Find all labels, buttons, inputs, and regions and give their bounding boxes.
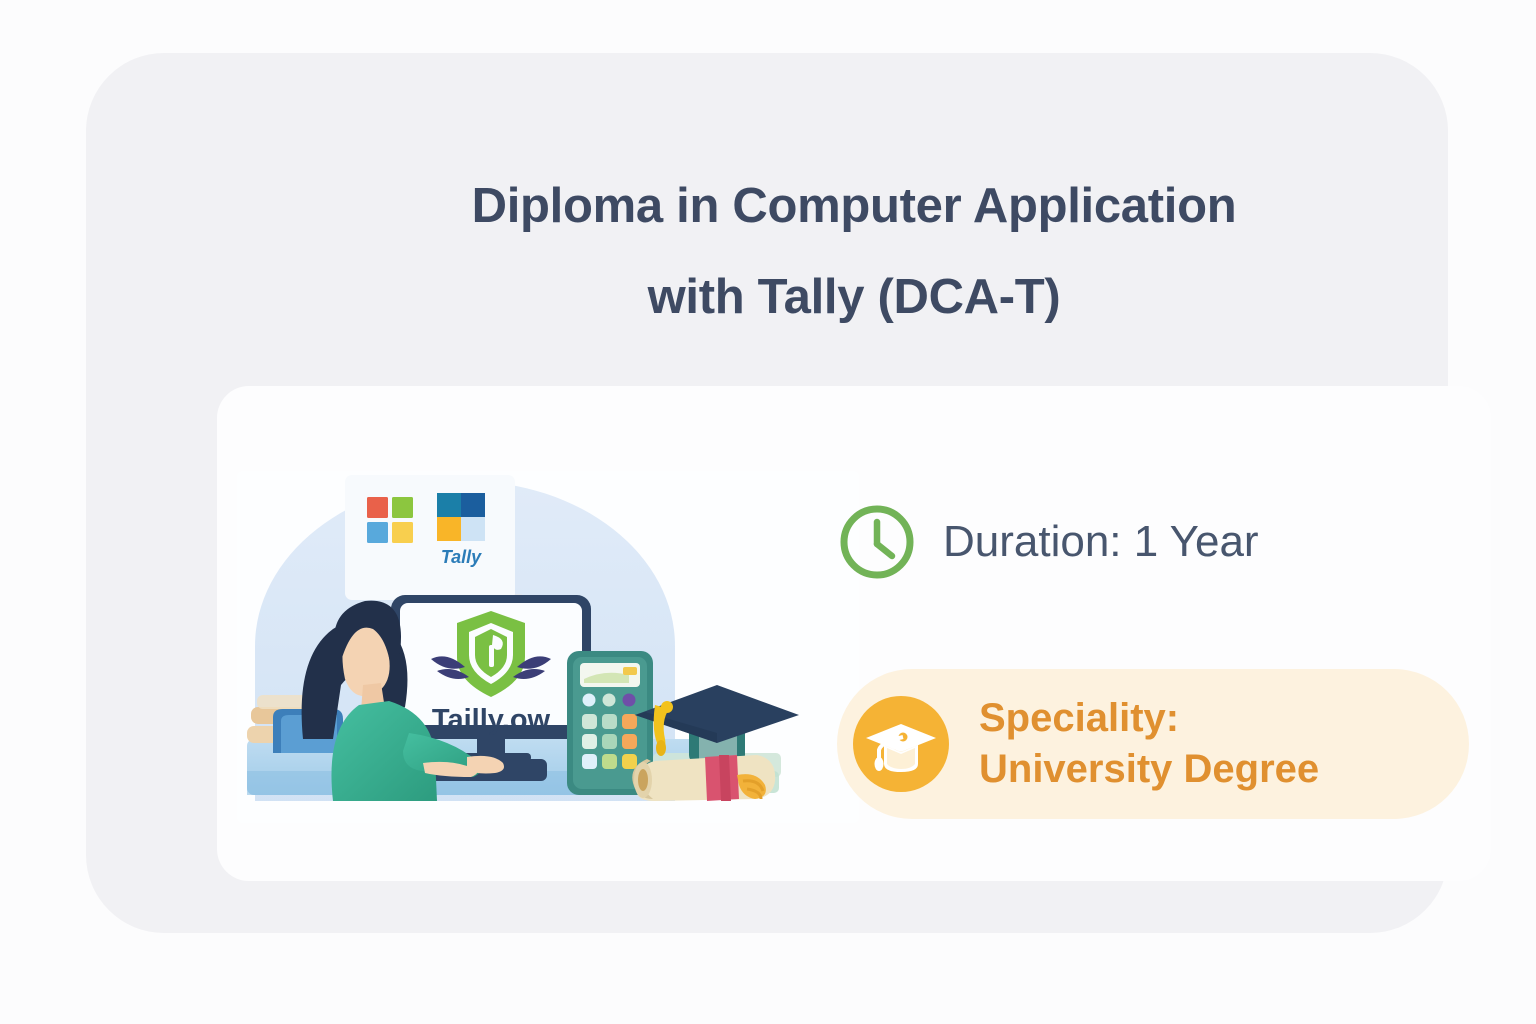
duration-row: Duration: 1 Year bbox=[837, 502, 1259, 582]
clock-icon bbox=[837, 502, 917, 582]
page-title: Diploma in Computer Application with Tal… bbox=[226, 161, 1482, 342]
page-title-line-2: with Tally (DCA-T) bbox=[226, 252, 1482, 343]
speciality-label-line-2: University Degree bbox=[979, 744, 1319, 795]
illustration-svg: Tally bbox=[237, 471, 859, 823]
duration-label: Duration: 1 Year bbox=[943, 517, 1259, 567]
graduation-cap-icon bbox=[851, 694, 951, 794]
diploma-scroll bbox=[632, 755, 775, 801]
logo-panel: Tally bbox=[345, 475, 515, 600]
svg-text:Tailly.ow: Tailly.ow bbox=[432, 704, 551, 736]
page-root: Diploma in Computer Application with Tal… bbox=[0, 0, 1536, 1024]
speciality-label-line-1: Speciality: bbox=[979, 693, 1319, 744]
course-card-outer: Diploma in Computer Application with Tal… bbox=[86, 53, 1448, 933]
speciality-badge: Speciality: University Degree bbox=[837, 669, 1469, 819]
course-details-card: Tally bbox=[217, 386, 1491, 881]
speciality-label: Speciality: University Degree bbox=[979, 693, 1319, 795]
svg-text:Tally: Tally bbox=[441, 547, 482, 567]
student-at-computer-illustration: Tally bbox=[237, 471, 859, 823]
course-info-column: Duration: 1 Year Speciality: bbox=[837, 476, 1487, 826]
page-title-line-1: Diploma in Computer Application bbox=[226, 161, 1482, 252]
